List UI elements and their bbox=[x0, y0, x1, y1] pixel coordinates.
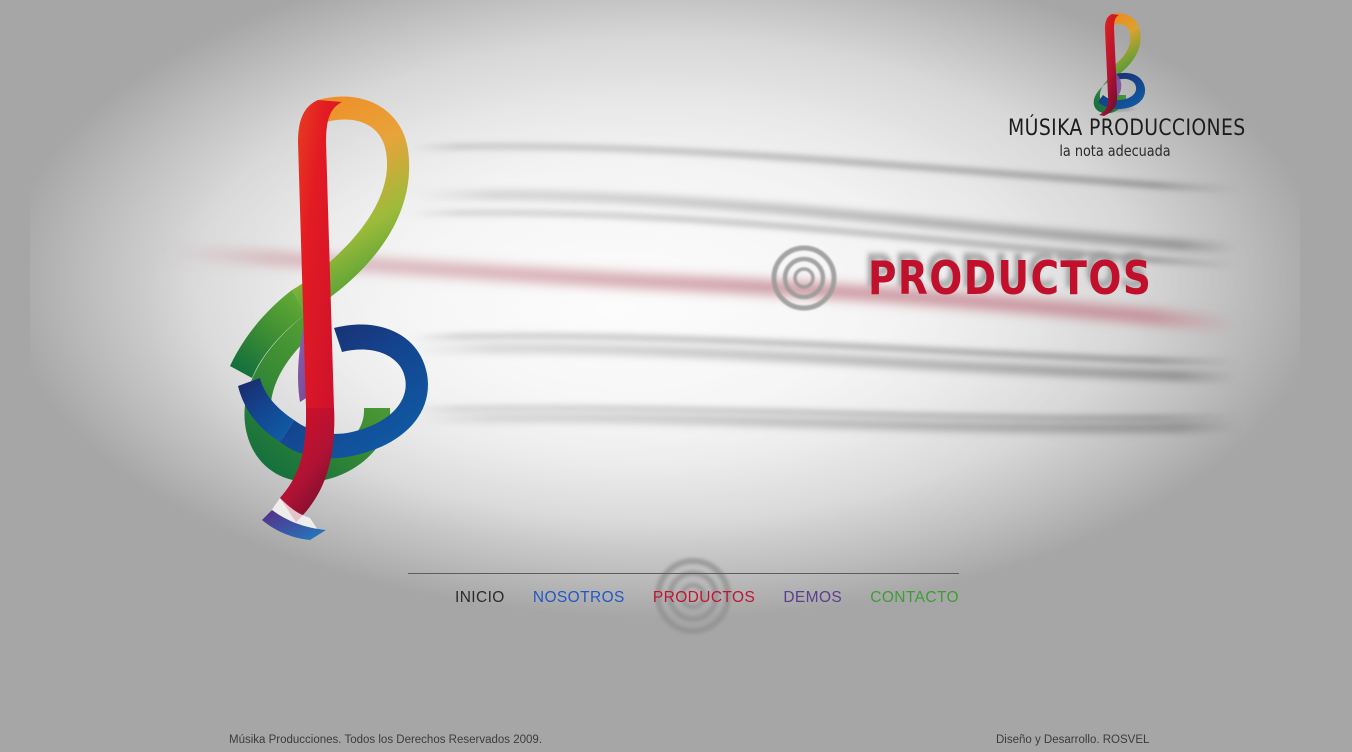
footer-credits: Diseño y Desarrollo. ROSVEL bbox=[996, 734, 1149, 746]
page-stage: MÚSIKA PRODUCCIONES la nota adecuada PRO… bbox=[0, 0, 1352, 752]
nav-item-nosotros[interactable]: NOSOTROS bbox=[533, 589, 625, 607]
page-title-block: PRODUCTOS PRODUCTOS bbox=[770, 243, 1170, 313]
page-title: PRODUCTOS PRODUCTOS bbox=[868, 255, 1152, 301]
nav-list: INICIO NOSOTROS PRODUCTOS DEMOS CONTACTO bbox=[455, 589, 959, 607]
concentric-rings-icon bbox=[770, 244, 838, 312]
nav-item-contacto[interactable]: CONTACTO bbox=[870, 589, 959, 607]
nav-item-productos[interactable]: PRODUCTOS bbox=[653, 589, 755, 607]
brand-logo[interactable]: MÚSIKA PRODUCCIONES la nota adecuada bbox=[1000, 8, 1230, 159]
footer-copyright: Músika Producciones. Todos los Derechos … bbox=[229, 734, 542, 746]
treble-clef-ribbon-icon bbox=[1080, 8, 1150, 116]
nav-item-demos[interactable]: DEMOS bbox=[783, 589, 842, 607]
brand-name: MÚSIKA PRODUCCIONES bbox=[1008, 117, 1222, 140]
nav-divider bbox=[408, 573, 959, 574]
large-treble-clef-ribbon-icon bbox=[222, 78, 444, 543]
page-title-text: PRODUCTOS bbox=[868, 251, 1152, 305]
nav-item-inicio[interactable]: INICIO bbox=[455, 589, 505, 607]
brand-tagline: la nota adecuada bbox=[1006, 144, 1225, 159]
